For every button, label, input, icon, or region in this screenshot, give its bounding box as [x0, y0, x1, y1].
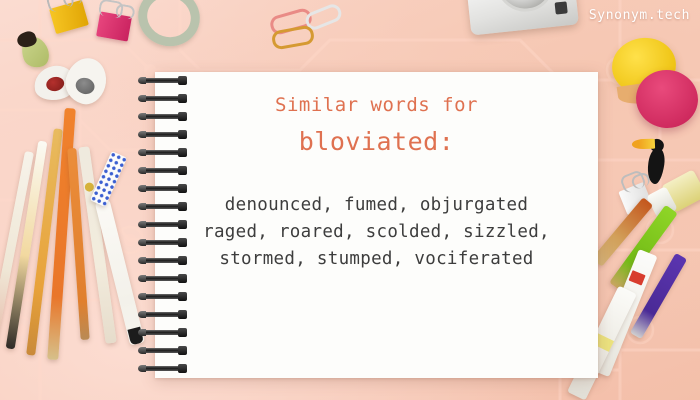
synonym-line: denounced, fumed, objurgated	[155, 192, 598, 219]
page-title: Similar words for	[155, 94, 598, 117]
spiral-ring	[141, 96, 185, 101]
spiral-ring	[141, 78, 185, 83]
spiral-ring	[141, 330, 185, 335]
spiral-ring	[141, 132, 185, 137]
synonym-list: denounced, fumed, objurgated raged, roar…	[155, 192, 598, 273]
spiral-ring	[141, 312, 185, 317]
spiral-ring	[141, 114, 185, 119]
spiral-ring	[141, 366, 185, 371]
desk-scene: Similar words for bloviated: denounced, …	[0, 0, 700, 400]
synonym-line: stormed, stumped, vociferated	[155, 246, 598, 273]
spiral-ring	[141, 240, 185, 245]
spiral-ring	[141, 186, 185, 191]
spiral-ring	[141, 150, 185, 155]
spiral-ring	[141, 168, 185, 173]
spiral-ring	[141, 294, 185, 299]
notebook-page: Similar words for bloviated: denounced, …	[155, 72, 598, 378]
brand-watermark: Synonym.tech	[589, 8, 690, 23]
headword-text: bloviated:	[155, 127, 598, 157]
spiral-ring	[141, 204, 185, 209]
spiral-binding	[141, 74, 187, 376]
spiral-ring	[141, 276, 185, 281]
spiral-ring	[141, 222, 185, 227]
pink-binder-clip	[96, 11, 132, 41]
spiral-ring	[141, 258, 185, 263]
page-heading-block: Similar words for bloviated:	[155, 94, 598, 157]
spiral-ring	[141, 348, 185, 353]
synonym-line: raged, roared, scolded, sizzled,	[155, 219, 598, 246]
